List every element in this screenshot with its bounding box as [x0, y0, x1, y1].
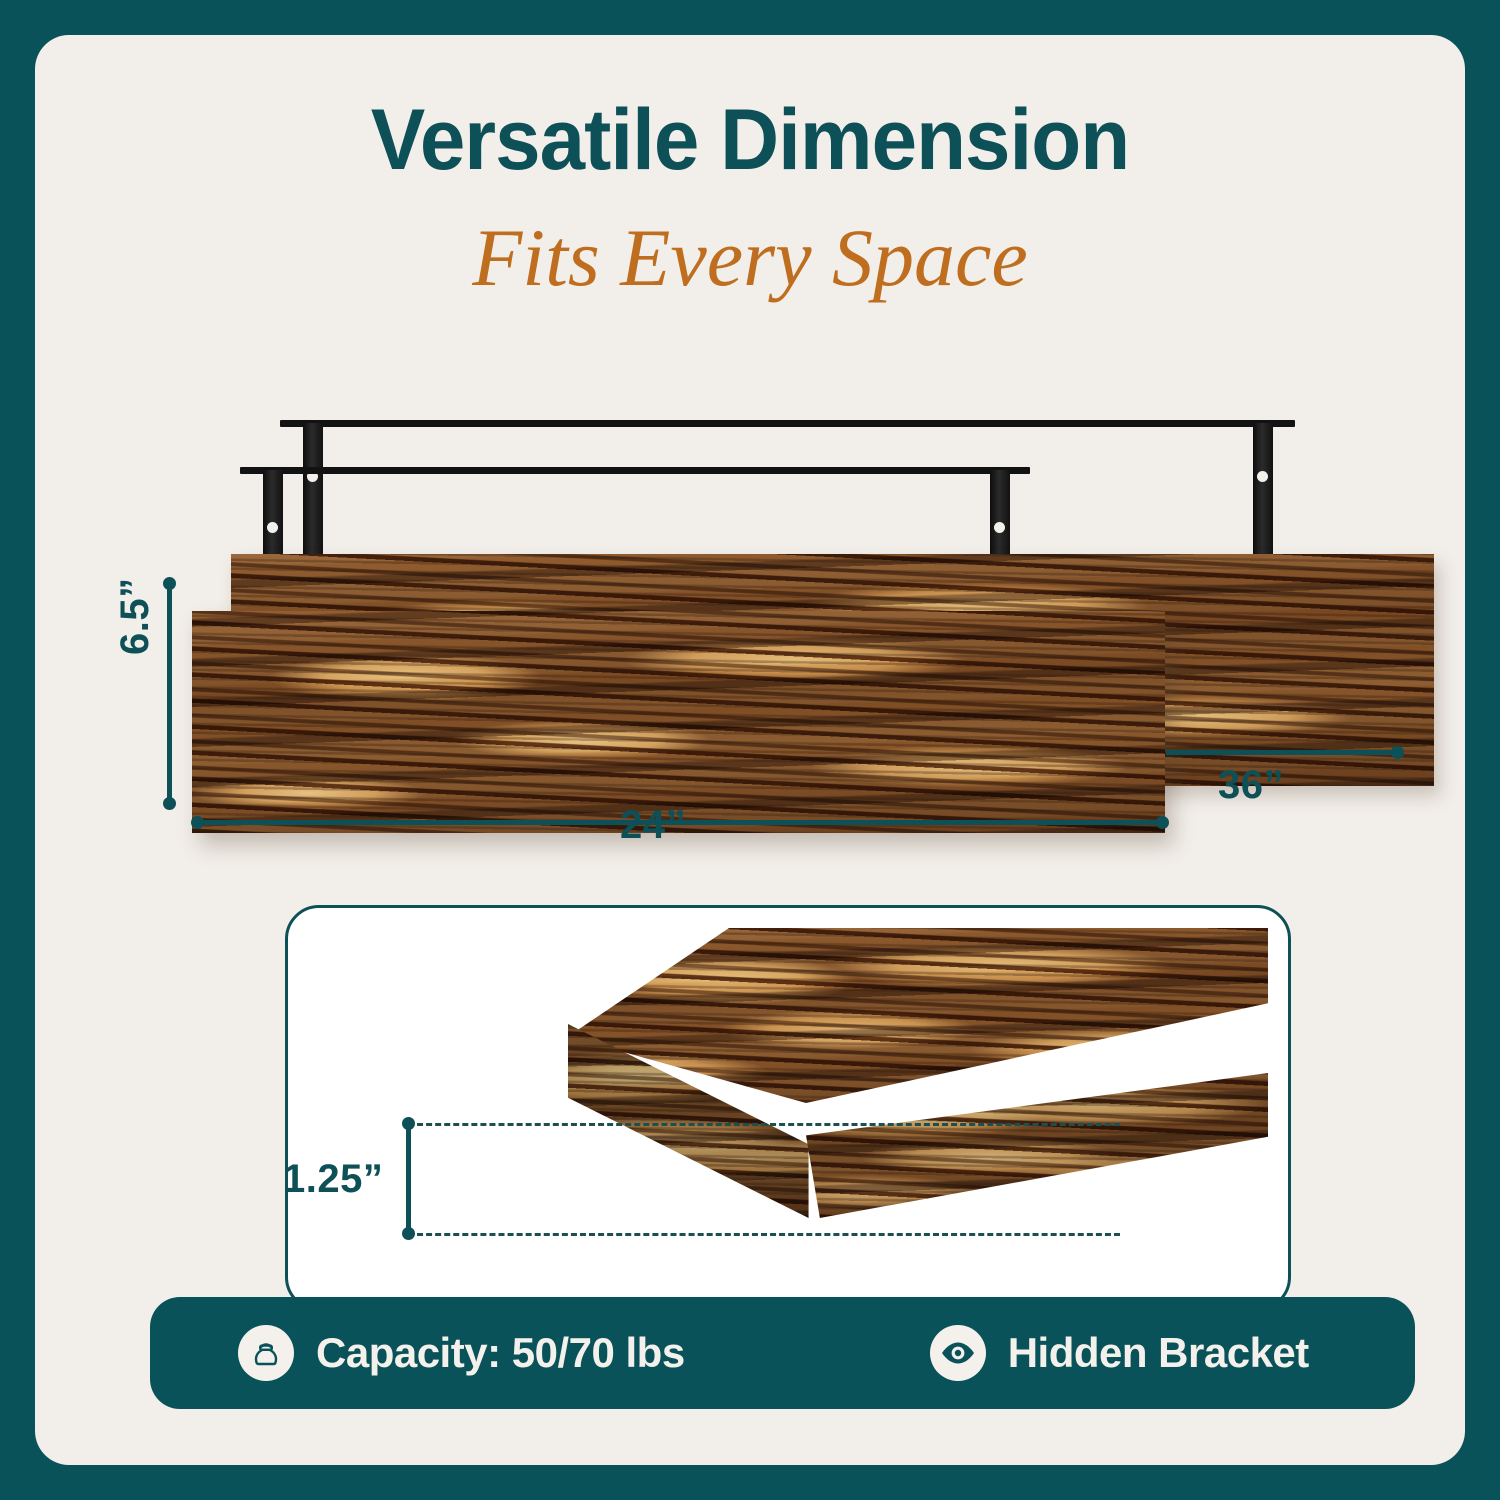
feature-bar: Capacity: 50/70 lbs Hidden Bracket [150, 1297, 1415, 1409]
shelf-front-edge-face [806, 1073, 1268, 1218]
shelf-board-24in [192, 611, 1165, 833]
feature-capacity: Capacity: 50/70 lbs [238, 1325, 685, 1381]
screw-hole-icon [1257, 471, 1268, 482]
bracket-post-back-left [303, 423, 323, 568]
kettlebell-icon [238, 1325, 294, 1381]
feature-hidden-bracket: Hidden Bracket [930, 1325, 1309, 1381]
content-panel: Versatile Dimension Fits Every Space [35, 35, 1465, 1465]
screw-hole-icon [994, 522, 1005, 533]
leader-line-bottom [408, 1233, 1120, 1236]
bracket-rail-back [280, 420, 1295, 427]
dimension-label-thickness: 1.25” [283, 1157, 383, 1202]
dimension-label-width-front: 24” [620, 803, 686, 848]
page-title: Versatile Dimension [71, 97, 1430, 183]
feature-capacity-label: Capacity: 50/70 lbs [316, 1329, 685, 1377]
shelf-3d-render [568, 928, 1268, 1218]
bracket-rail-front [240, 467, 1030, 474]
outer-frame: Versatile Dimension Fits Every Space [0, 0, 1500, 1500]
dimension-label-width-back: 36” [1218, 763, 1284, 808]
screw-hole-icon [267, 522, 278, 533]
page-subtitle: Fits Every Space [35, 217, 1465, 299]
bracket-post-back-right [1253, 423, 1273, 568]
feature-bracket-label: Hidden Bracket [1008, 1329, 1309, 1377]
thickness-detail-card: 1.25” [285, 905, 1291, 1311]
eye-icon [930, 1325, 986, 1381]
dimension-label-height: 6.5” [113, 577, 158, 655]
leader-line-top [408, 1123, 1120, 1126]
